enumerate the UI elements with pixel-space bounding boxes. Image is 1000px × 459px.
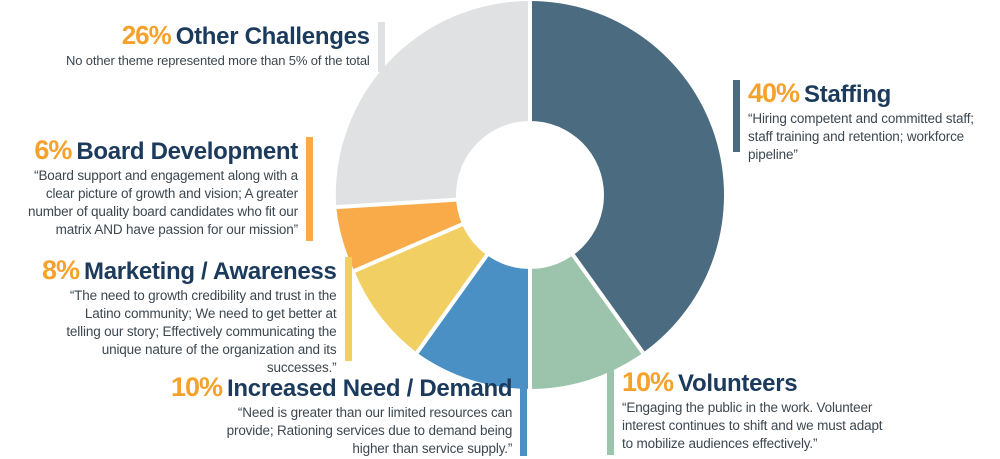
callout-body: 10%Increased Need / Demand “Need is grea…: [171, 374, 512, 456]
callout-body: 10%Volunteers “Engaging the public in th…: [622, 369, 884, 455]
callout-heading: 10%Increased Need / Demand: [171, 374, 512, 401]
donut-chart: [335, 0, 725, 390]
accent-bar-increased-need-demand: [520, 374, 527, 456]
callout-marketing-awareness[interactable]: 8%Marketing / Awareness “The need to gro…: [42, 257, 352, 361]
callout-title: Staffing: [804, 81, 891, 108]
callout-staffing[interactable]: 40%Staffing “Hiring competent and commit…: [733, 80, 1000, 152]
donut-hole: [456, 121, 604, 269]
callout-title: Other Challenges: [176, 23, 370, 50]
callout-description: “Board support and engagement along with…: [20, 167, 298, 239]
accent-bar-other-challenges: [378, 22, 385, 72]
accent-bar-marketing-awareness: [345, 257, 352, 361]
callout-other-challenges[interactable]: 26%Other Challenges No other theme repre…: [66, 22, 385, 72]
callout-increased-need-demand[interactable]: 10%Increased Need / Demand “Need is grea…: [171, 374, 527, 456]
callout-heading: 26%Other Challenges: [122, 22, 370, 49]
accent-bar-staffing: [733, 80, 740, 152]
accent-bar-volunteers: [607, 369, 614, 455]
donut-chart-svg: [335, 0, 725, 390]
callout-volunteers[interactable]: 10%Volunteers “Engaging the public in th…: [607, 369, 884, 455]
infographic-canvas: 40%Staffing “Hiring competent and commit…: [0, 0, 1000, 459]
callout-percent: 10%: [622, 367, 673, 397]
callout-description: “The need to growth credibility and trus…: [61, 287, 337, 377]
callout-board-development[interactable]: 6%Board Development “Board support and e…: [20, 137, 313, 241]
callout-body: 6%Board Development “Board support and e…: [20, 137, 298, 241]
callout-percent: 6%: [34, 135, 71, 165]
callout-heading: 8%Marketing / Awareness: [42, 257, 337, 284]
callout-title: Marketing / Awareness: [84, 258, 336, 285]
callout-description: “Need is greater than our limited resour…: [220, 404, 512, 458]
accent-bar-board-development: [306, 137, 313, 241]
callout-title: Increased Need / Demand: [227, 375, 512, 402]
callout-body: 8%Marketing / Awareness “The need to gro…: [42, 257, 337, 361]
callout-heading: 40%Staffing: [748, 80, 1000, 107]
callout-percent: 8%: [42, 255, 79, 285]
callout-percent: 26%: [122, 20, 171, 50]
callout-title: Board Development: [76, 138, 298, 165]
callout-body: 40%Staffing “Hiring competent and commit…: [748, 80, 1000, 152]
callout-description: “Engaging the public in the work. Volunt…: [622, 399, 884, 453]
callout-title: Volunteers: [678, 370, 797, 397]
callout-percent: 40%: [748, 78, 799, 108]
callout-body: 26%Other Challenges No other theme repre…: [66, 22, 370, 72]
callout-percent: 10%: [171, 372, 222, 402]
callout-heading: 10%Volunteers: [622, 369, 884, 396]
callout-description: “Hiring competent and committed staff; s…: [748, 110, 1000, 164]
callout-description: No other theme represented more than 5% …: [66, 52, 370, 69]
callout-heading: 6%Board Development: [34, 137, 298, 164]
